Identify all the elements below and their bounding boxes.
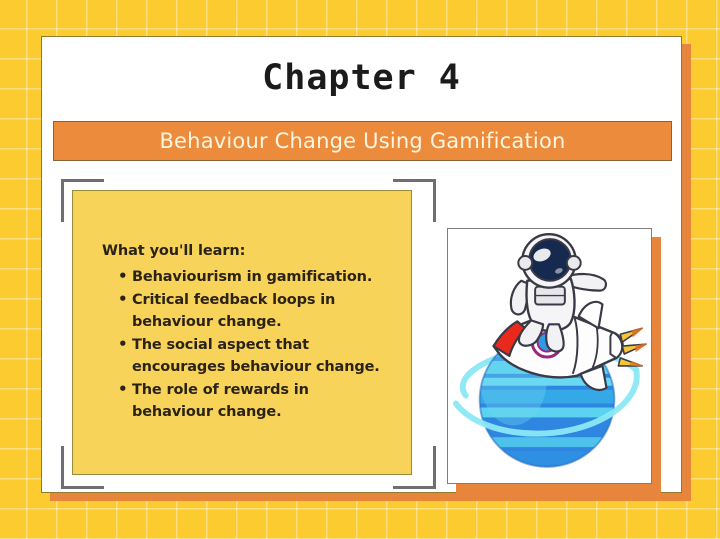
slide-card: Chapter 4 Behaviour Change Using Gamific… <box>41 36 682 493</box>
list-item: Critical feedback loops in behaviour cha… <box>118 289 391 333</box>
illustration-frame <box>447 228 652 484</box>
subtitle-banner: Behaviour Change Using Gamification <box>53 121 672 161</box>
subtitle-banner-label: Behaviour Change Using Gamification <box>159 129 565 153</box>
list-item: The role of rewards in behaviour change. <box>118 379 391 423</box>
page-title: Chapter 4 <box>42 61 681 96</box>
list-item: Behaviourism in gamification. <box>118 266 391 288</box>
objectives-list: Behaviourism in gamification. Critical f… <box>102 266 391 423</box>
astronaut-rocket-planet-illustration <box>448 229 651 483</box>
objectives-bracket-frame: What you'll learn: Behaviourism in gamif… <box>61 179 436 489</box>
slide-body: What you'll learn: Behaviourism in gamif… <box>42 173 683 493</box>
slide-root: Chapter 4 Behaviour Change Using Gamific… <box>0 0 720 539</box>
objectives-panel: What you'll learn: Behaviourism in gamif… <box>72 190 412 475</box>
list-item: The social aspect that encourages behavi… <box>118 334 391 378</box>
illustration-frame-wrap <box>447 228 669 493</box>
objectives-heading: What you'll learn: <box>102 243 391 259</box>
